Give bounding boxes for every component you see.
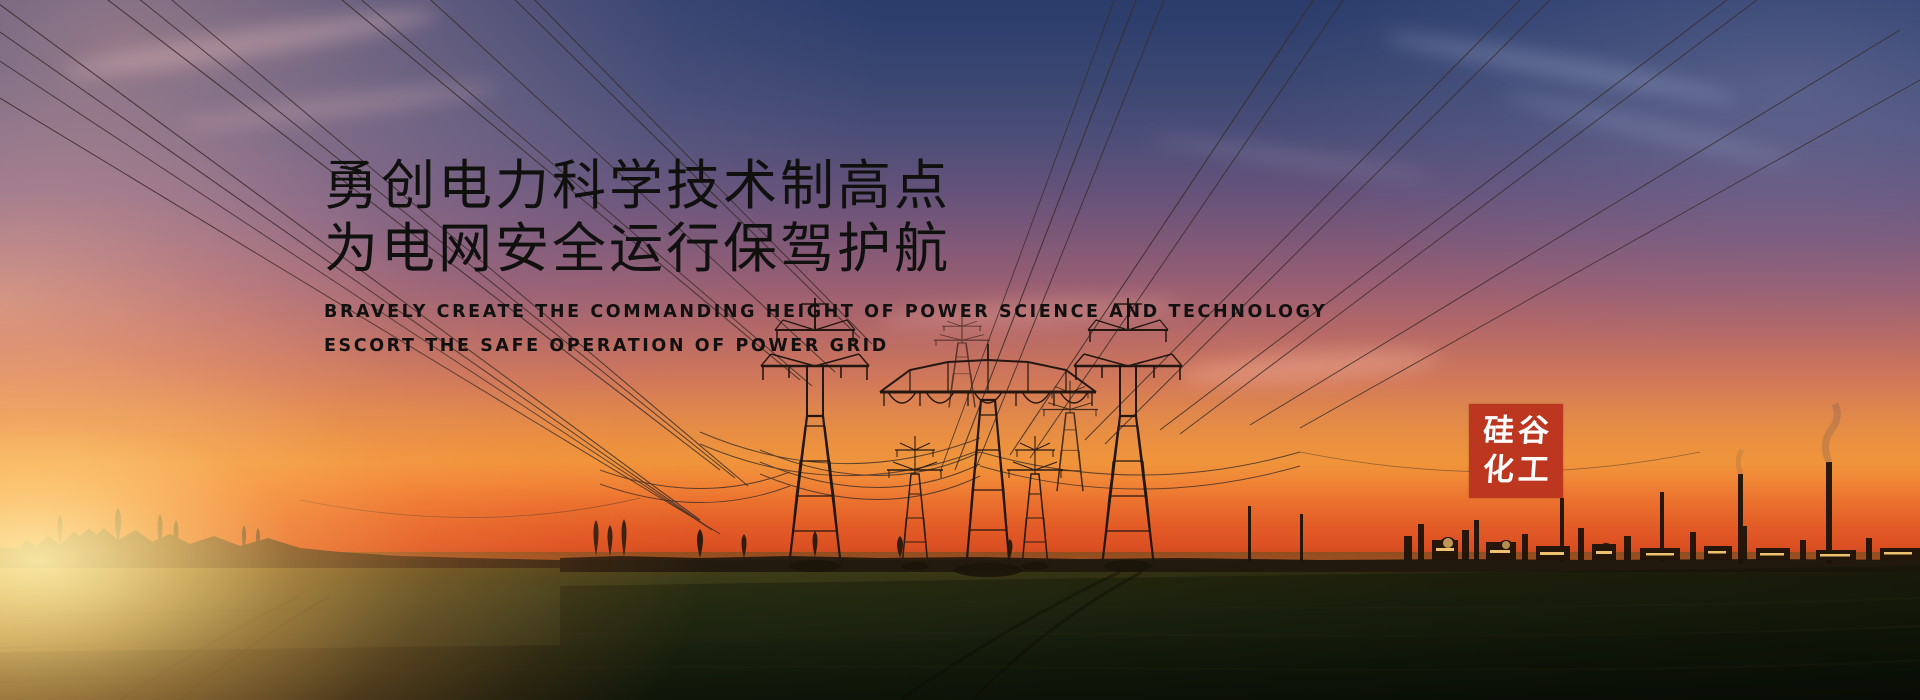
headline-line-1: 勇创电力科学技术制高点	[324, 154, 1224, 217]
headline-line-2: 为电网安全运行保驾护航	[324, 217, 1224, 280]
transmission-tower-small-b	[1007, 436, 1063, 566]
industrial-refinery	[1248, 404, 1920, 564]
transmission-tower-small-a	[887, 436, 943, 566]
seal-line-2: 化工	[1478, 451, 1555, 490]
subtitle-line-1: BRAVELY CREATE THE COMMANDING HEIGHT OF …	[324, 302, 1224, 322]
company-seal-logo: 硅谷 化工	[1469, 404, 1563, 498]
seal-line-1: 硅谷	[1478, 412, 1555, 451]
hero-banner: 勇创电力科学技术制高点 为电网安全运行保驾护航 BRAVELY CREATE T…	[0, 0, 1920, 700]
subtitle-line-2: ESCORT THE SAFE OPERATION OF POWER GRID	[324, 336, 1224, 356]
seal-text-block: 硅谷 化工	[1469, 404, 1563, 498]
banner-copy: 勇创电力科学技术制高点 为电网安全运行保驾护航 BRAVELY CREATE T…	[324, 154, 1224, 356]
